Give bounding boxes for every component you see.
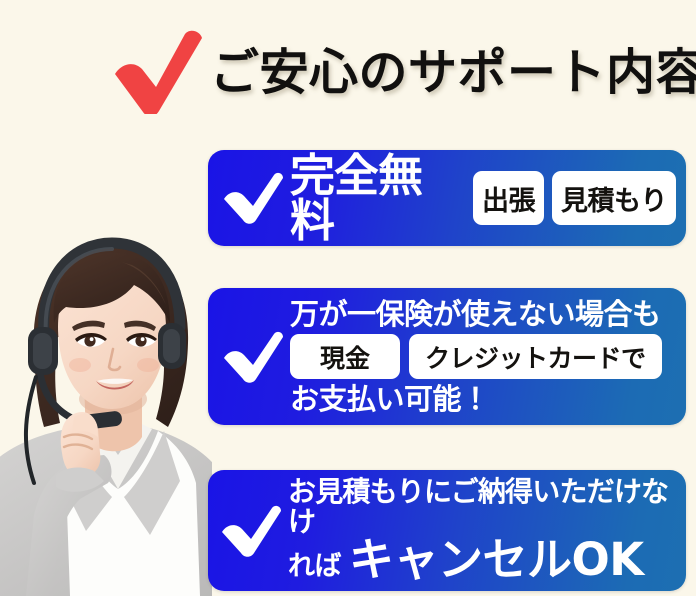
operator-photo (0, 231, 212, 596)
pill-estimate: 見積もり (552, 171, 676, 225)
white-check-icon (222, 331, 284, 383)
pill-credit-card: クレジットカードで (409, 334, 662, 379)
page-title: ご安心のサポート内容 (112, 22, 696, 122)
free-main-text: 完全無料 (290, 153, 465, 243)
red-check-icon (112, 30, 204, 114)
page-title-text: ご安心のサポート内容 (210, 48, 696, 97)
benefit-card-cancel-body: お見積もりにご納得いただけなけ れば キャンセルOK (286, 477, 686, 583)
cancel-top-text: お見積もりにご納得いただけなけ (288, 477, 676, 536)
benefit-card-free: 完全無料 出張 見積もり (208, 150, 686, 246)
support-banner: ご安心のサポート内容 (0, 0, 696, 596)
pill-dispatch: 出張 (473, 171, 544, 225)
payment-bottom-text: お支払い可能！ (290, 384, 676, 414)
payment-methods: 現金 クレジットカードで (290, 334, 676, 379)
white-check-icon (222, 172, 284, 224)
benefit-card-free-body: 完全無料 出張 見積もり (288, 153, 686, 243)
benefit-card-cancel: お見積もりにご納得いただけなけ れば キャンセルOK (208, 470, 686, 591)
payment-top-text: 万が一保険が使えない場合も (290, 299, 676, 329)
benefit-card-payment-body: 万が一保険が使えない場合も 現金 クレジットカードで お支払い可能！ (288, 299, 686, 415)
cancel-emphasis-text: キャンセルOK (349, 536, 644, 583)
benefit-card-payment: 万が一保険が使えない場合も 現金 クレジットカードで お支払い可能！ (208, 288, 686, 425)
white-check-icon (220, 505, 282, 557)
cancel-lead-text: れば (288, 553, 341, 580)
cancel-bottom-line: れば キャンセルOK (288, 536, 676, 583)
pill-cash: 現金 (290, 334, 400, 379)
